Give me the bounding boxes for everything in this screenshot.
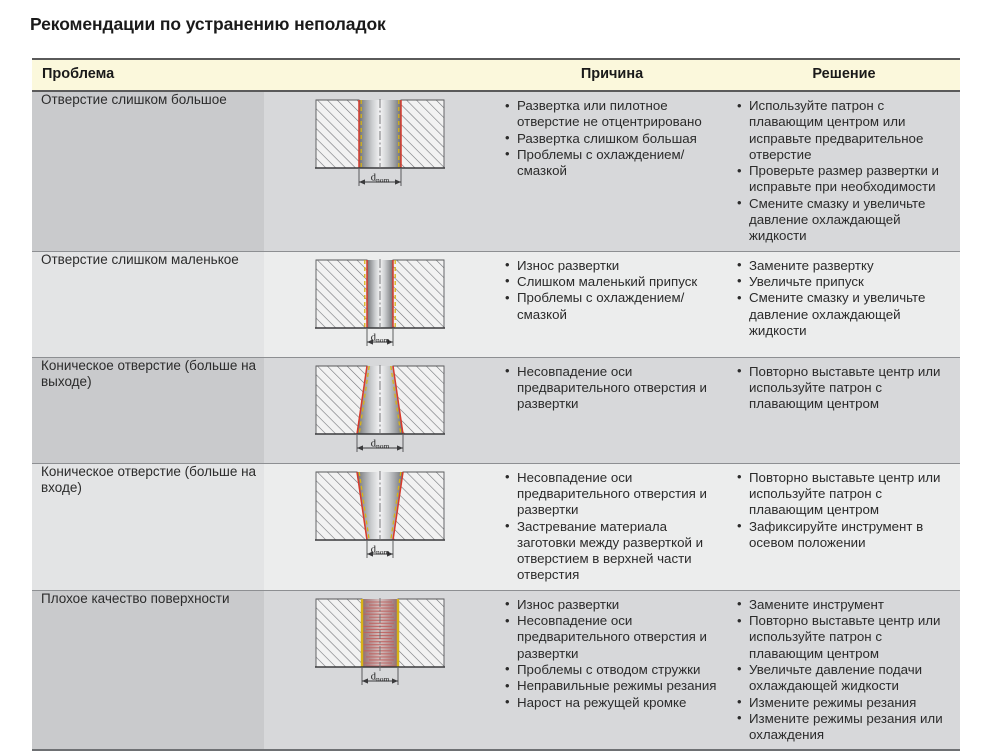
solution-item: Проверьте размер развертки и исправьте п… [736,163,954,196]
cause-item: Застревание материала заготовки между ра… [504,519,720,584]
solution-item: Увеличьте давление подачи охлаждающей жи… [736,662,954,695]
cell-figure: dnom [264,590,496,750]
cause-item: Несовпадение оси предварительного отверс… [504,613,720,662]
cell-figure: dnom [264,357,496,463]
troubleshooting-table-wrapper: Проблема Причина Решение Отверстие слишк… [32,58,960,751]
solution-item: Используйте патрон с плавающим центром и… [736,98,954,163]
column-header-cause: Причина [496,59,728,91]
cause-list: Износ разверткиНесовпадение оси предвари… [504,597,720,711]
poor-surface-finish-cross-section-icon: dnom [264,591,496,696]
solution-item: Повторно выставьте центр или используйте… [736,613,954,662]
cell-figure: dnom [264,251,496,357]
problem-label: Отверстие слишком большое [41,92,227,109]
svg-text:dnom: dnom [371,173,390,185]
cell-cause: Несовпадение оси предварительного отверс… [496,463,728,590]
page-title: Рекомендации по устранению неполадок [30,14,386,35]
solution-item: Повторно выставьте центр или используйте… [736,470,954,519]
cell-cause: Несовпадение оси предварительного отверс… [496,357,728,463]
svg-text:dnom: dnom [371,332,390,344]
solution-item: Повторно выставьте центр или используйте… [736,364,954,413]
solution-item: Смените смазку и увеличьте давление охла… [736,196,954,245]
problem-label: Плохое качество поверхности [41,591,230,608]
cause-item: Износ развертки [504,597,720,613]
cell-cause: Износ разверткиСлишком маленький припуск… [496,251,728,357]
cause-item: Износ развертки [504,258,720,274]
troubleshooting-page: Рекомендации по устранению неполадок Про… [0,0,990,697]
cell-solution: Замените разверткуУвеличьте припускСмени… [728,251,960,357]
cause-item: Несовпадение оси предварительного отверс… [504,364,720,413]
table-row: Коническое отверстие (больше на входе)dn… [32,463,960,590]
cause-item: Проблемы с охлаждением/смазкой [504,147,720,180]
svg-text:dnom: dnom [371,544,390,556]
cell-solution: Используйте патрон с плавающим центром и… [728,91,960,251]
cell-solution: Повторно выставьте центр или используйте… [728,357,960,463]
column-header-solution: Решение [728,59,960,91]
table-row: Отверстие слишком большоеdnomРазвертка и… [32,91,960,251]
solution-list: Замените инструментПовторно выставьте це… [736,597,954,744]
cell-cause: Развертка или пилотное отверстие не отце… [496,91,728,251]
hole-too-small-cross-section-icon: dnom [264,252,496,357]
cell-problem: Отверстие слишком маленькое [32,251,264,357]
table-header: Проблема Причина Решение [32,59,960,91]
table-row: Плохое качество поверхностиdnomИзнос раз… [32,590,960,750]
cause-list: Износ разверткиСлишком маленький припуск… [504,258,720,323]
table-row: Отверстие слишком маленькоеdnomИзнос раз… [32,251,960,357]
solution-list: Повторно выставьте центр или используйте… [736,470,954,551]
cause-item: Проблемы с отводом стружки [504,662,720,678]
cell-solution: Замените инструментПовторно выставьте це… [728,590,960,750]
cell-problem: Коническое отверстие (больше на выходе) [32,357,264,463]
cell-problem: Отверстие слишком большое [32,91,264,251]
cause-list: Развертка или пилотное отверстие не отце… [504,98,720,179]
problem-label: Коническое отверстие (больше на входе) [41,464,258,497]
cell-cause: Износ разверткиНесовпадение оси предвари… [496,590,728,750]
problem-label: Отверстие слишком маленькое [41,252,239,269]
cause-item: Неправильные режимы резания [504,678,720,694]
troubleshooting-table: Проблема Причина Решение Отверстие слишк… [32,58,960,751]
cell-figure: dnom [264,463,496,590]
column-header-problem: Проблема [32,59,496,91]
cause-item: Развертка слишком большая [504,131,720,147]
cause-list: Несовпадение оси предварительного отверс… [504,470,720,584]
cause-list: Несовпадение оси предварительного отверс… [504,364,720,413]
hole-too-large-cross-section-icon: dnom [264,92,496,197]
solution-item: Замените инструмент [736,597,954,613]
cell-problem: Плохое качество поверхности [32,590,264,750]
cell-problem: Коническое отверстие (больше на входе) [32,463,264,590]
solution-list: Используйте патрон с плавающим центром и… [736,98,954,245]
solution-item: Увеличьте припуск [736,274,954,290]
solution-list: Замените разверткуУвеличьте припускСмени… [736,258,954,339]
cause-item: Развертка или пилотное отверстие не отце… [504,98,720,131]
table-body: Отверстие слишком большоеdnomРазвертка и… [32,91,960,750]
tapered-hole-wider-at-exit-cross-section-icon: dnom [264,358,496,463]
cause-item: Слишком маленький припуск [504,274,720,290]
cell-figure: dnom [264,91,496,251]
cause-item: Несовпадение оси предварительного отверс… [504,470,720,519]
svg-text:dnom: dnom [371,671,390,683]
solution-list: Повторно выставьте центр или используйте… [736,364,954,413]
cell-solution: Повторно выставьте центр или используйте… [728,463,960,590]
cause-item: Проблемы с охлаждением/смазкой [504,290,720,323]
solution-item: Измените режимы резания или охлаждения [736,711,954,744]
solution-item: Зафиксируйте инструмент в осевом положен… [736,519,954,552]
table-header-row: Проблема Причина Решение [32,59,960,91]
solution-item: Замените развертку [736,258,954,274]
table-row: Коническое отверстие (больше на выходе)d… [32,357,960,463]
problem-label: Коническое отверстие (больше на выходе) [41,358,258,391]
solution-item: Смените смазку и увеличьте давление охла… [736,290,954,339]
svg-text:dnom: dnom [371,438,390,450]
tapered-hole-wider-at-entry-cross-section-icon: dnom [264,464,496,569]
